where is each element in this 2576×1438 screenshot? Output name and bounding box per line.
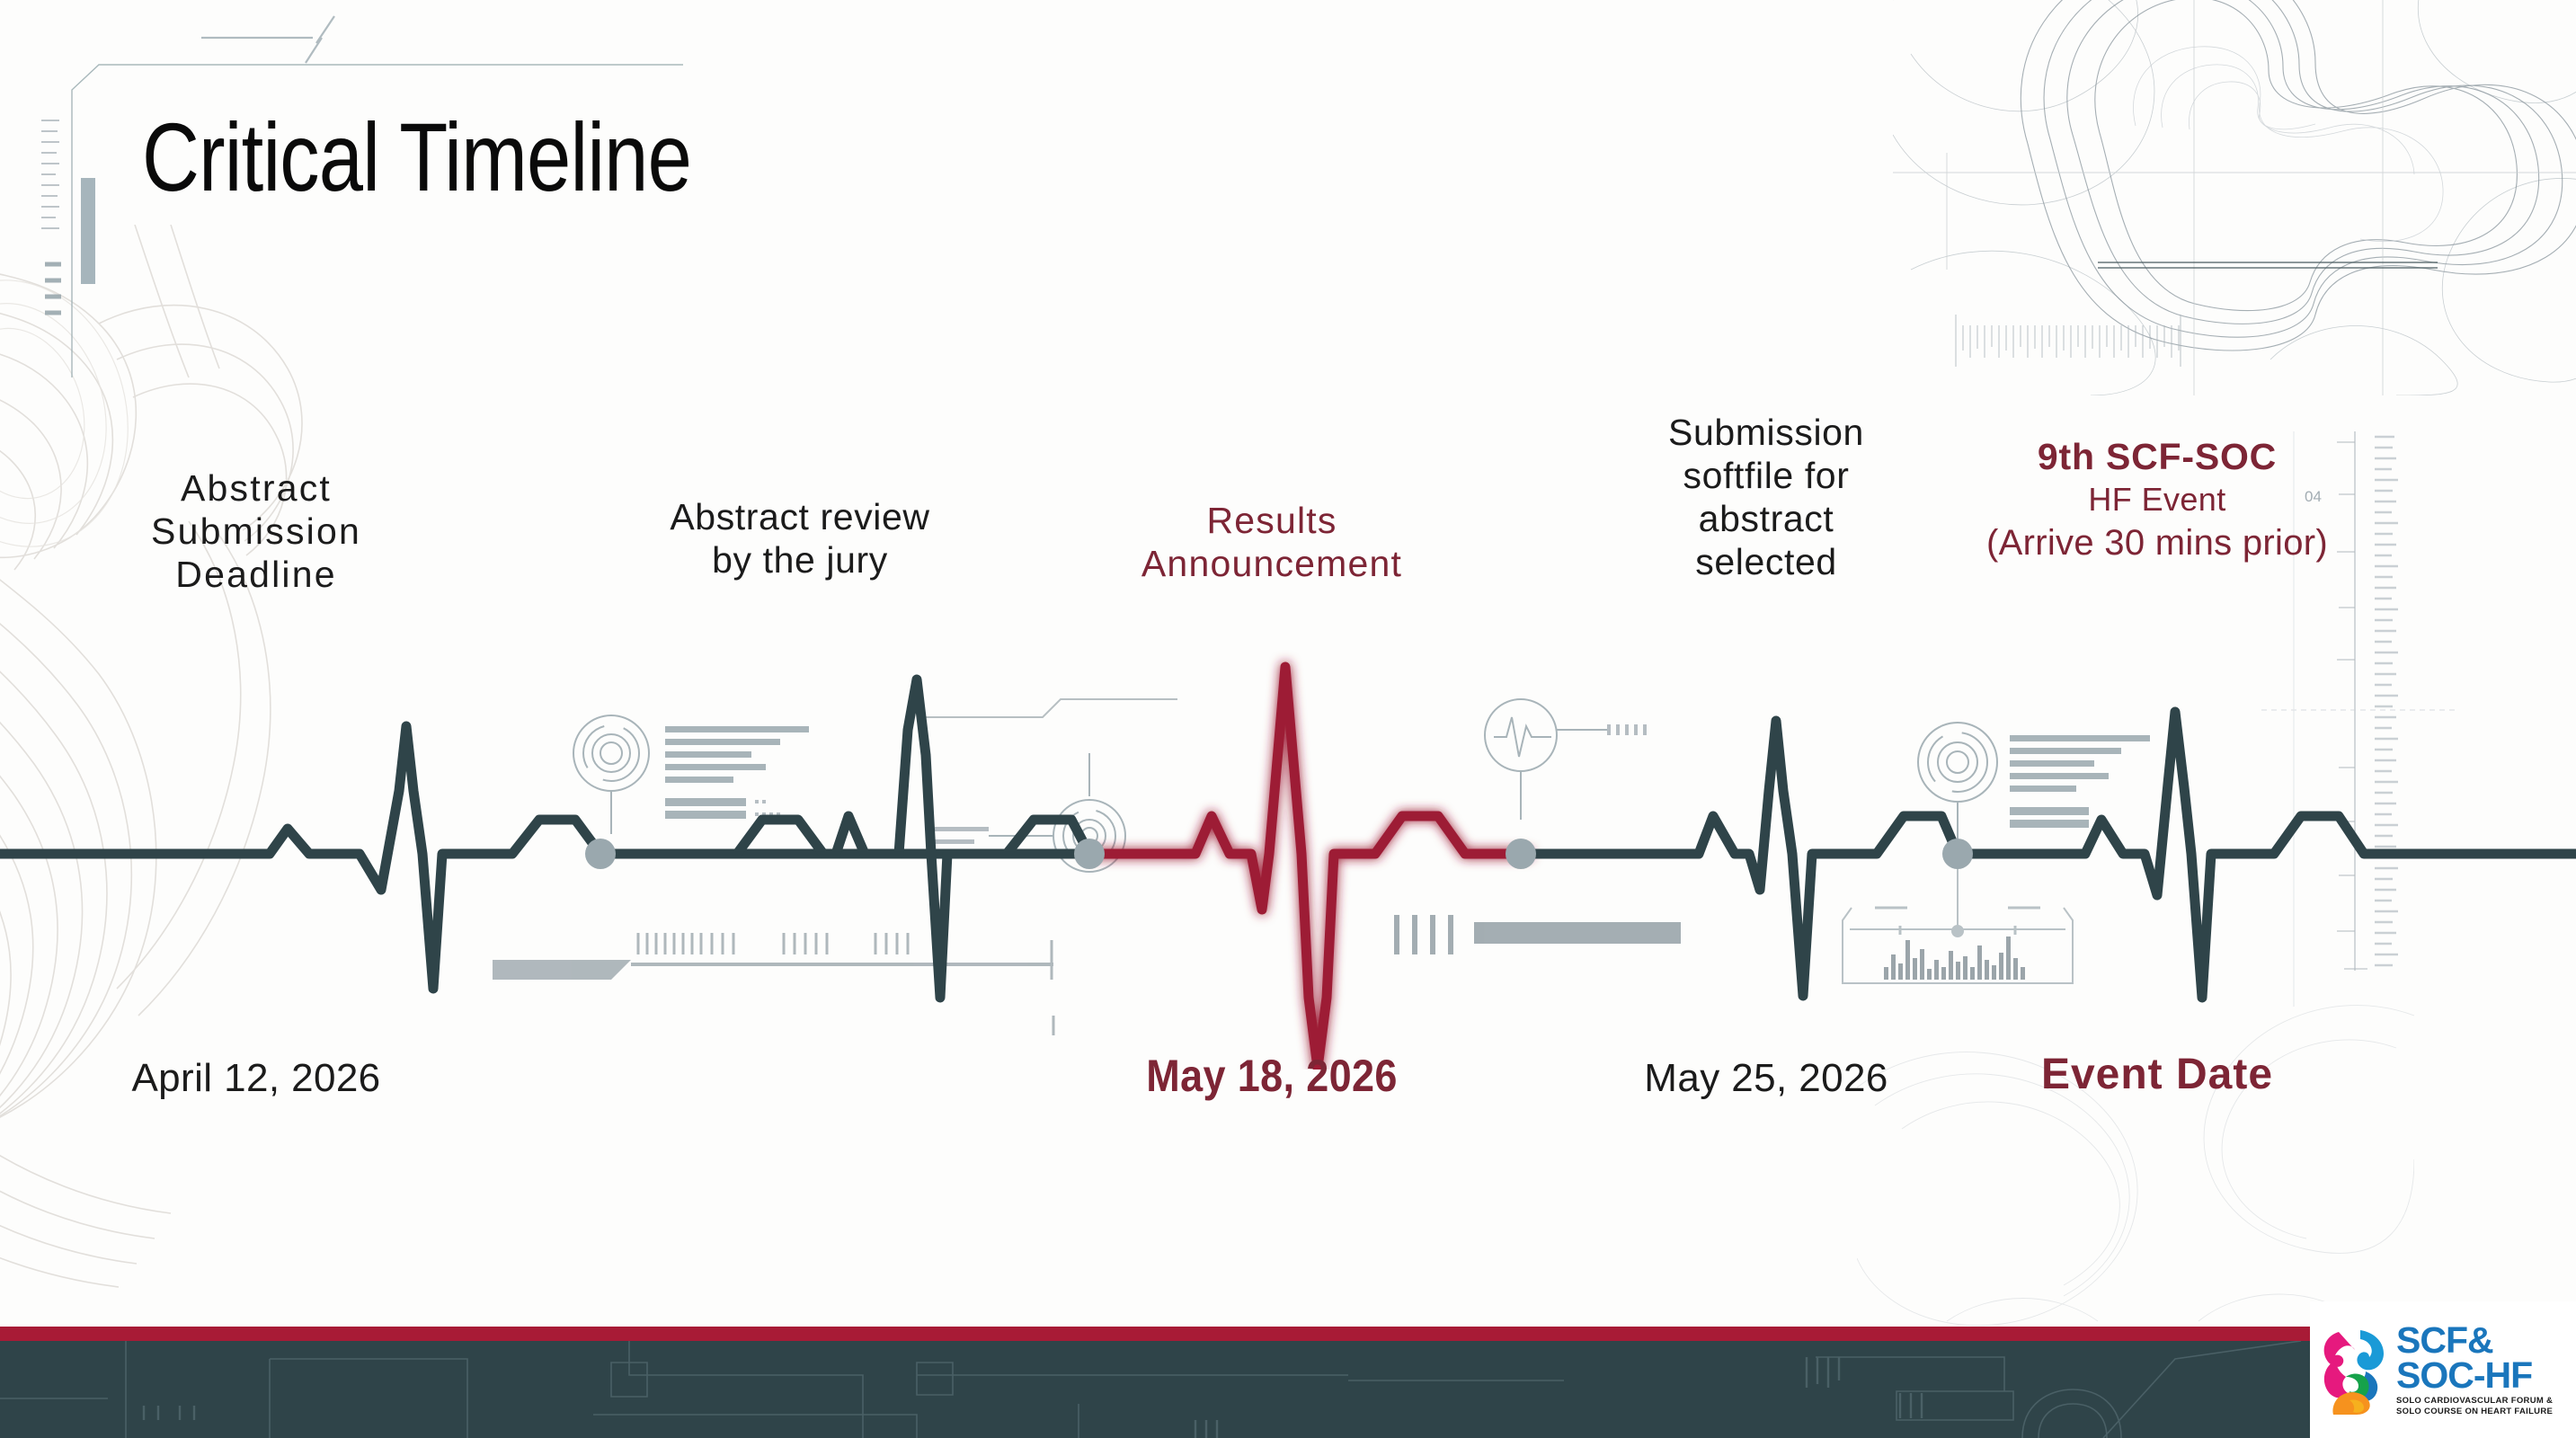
milestone-date-event-day: Event Date <box>1905 1050 2409 1099</box>
milestone-date: May 25, 2026 <box>1582 1056 1950 1101</box>
milestone-abstract-submission-deadline[interactable]: Abstract Submission Deadline <box>76 467 436 597</box>
milestone-date: May 18, 2026 <box>1042 1050 1503 1102</box>
milestone-date: Event Date <box>1905 1050 2409 1099</box>
milestone-date: April 12, 2026 <box>76 1056 436 1101</box>
milestone-label-line1: 9th SCF-SOC <box>1905 435 2409 479</box>
milestone-submission-softfile[interactable]: Submission softfile for abstract selecte… <box>1582 412 1950 584</box>
topographic-contours-icon <box>1893 0 2576 395</box>
milestone-date-abstract-submission-deadline: April 12, 2026 <box>76 1056 436 1101</box>
milestone-label: Abstract Submission Deadline <box>76 467 436 597</box>
ecg-timeline-graphic <box>0 620 2576 1070</box>
ecg-line-dark-right <box>1521 712 2576 998</box>
page-title: Critical Timeline <box>142 106 691 208</box>
organization-logo[interactable]: SCF& SOC-HF SOLO CARDIOVASCULAR FORUM & … <box>2310 1301 2576 1438</box>
timeline-node-2[interactable] <box>1074 839 1105 869</box>
milestone-label: Results Announcement <box>1016 500 1528 586</box>
milestone-label: Abstract review by the jury <box>575 496 1025 582</box>
milestone-abstract-review-jury[interactable]: Abstract review by the jury <box>575 496 1025 582</box>
milestone-label: Submission softfile for abstract selecte… <box>1582 412 1950 584</box>
milestone-label-line2: HF Event <box>1905 479 2409 521</box>
logo-line-1: SCF& <box>2396 1323 2553 1358</box>
timeline-node-1[interactable] <box>585 839 616 869</box>
slide-canvas: 04 Critical Timeline <box>0 0 2576 1438</box>
scf-soc-hf-emblem-icon <box>2315 1325 2393 1415</box>
hud-decoration-group-2 <box>493 933 1053 1035</box>
footer-bar <box>0 1341 2576 1438</box>
milestone-label-line3: (Arrive 30 mins prior) <box>1905 521 2409 564</box>
milestone-date-results-announcement: May 18, 2026 <box>1016 1050 1528 1102</box>
ecg-line-red <box>1089 667 1528 1068</box>
hud-decoration-group-4 <box>926 699 1177 717</box>
footer-accent-stripe <box>0 1327 2576 1341</box>
milestone-date-submission-softfile: May 25, 2026 <box>1582 1056 1950 1101</box>
timeline-node-4[interactable] <box>1942 839 1973 869</box>
milestone-results-announcement[interactable]: Results Announcement <box>1016 500 1528 586</box>
hud-decoration-group-5 <box>1485 699 1645 820</box>
timeline-node-3[interactable] <box>1506 839 1536 869</box>
logo-line-2: SOC-HF <box>2396 1358 2553 1393</box>
footer-blueprint-pattern <box>0 1341 2576 1438</box>
logo-tagline: SOLO CARDIOVASCULAR FORUM & SOLO COURSE … <box>2396 1396 2553 1416</box>
hud-decoration-group-6 <box>1397 915 1681 954</box>
milestone-event-day[interactable]: 9th SCF-SOC HF Event (Arrive 30 mins pri… <box>1905 435 2409 564</box>
